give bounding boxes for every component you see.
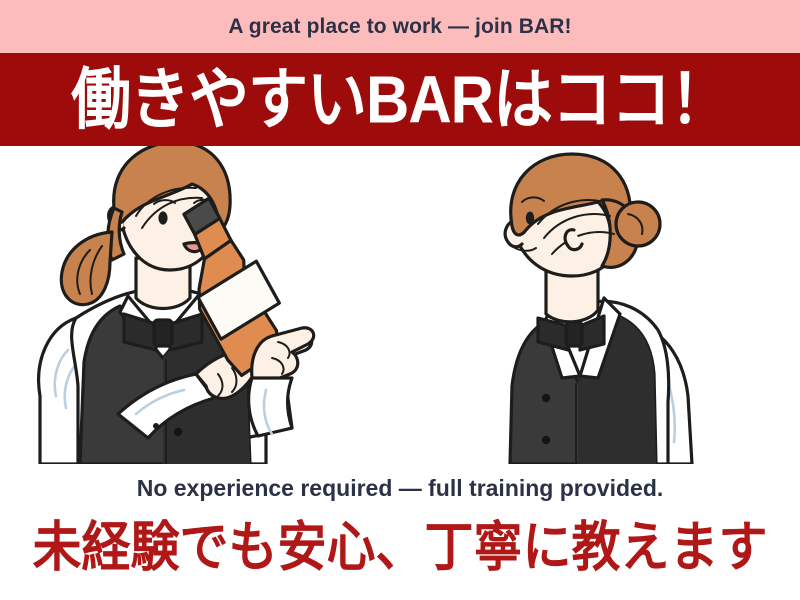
headline-band: 働きやすいBARはココ！: [0, 53, 800, 146]
illustration-stage: .ol { stroke:#1d1d1b; stroke-width:3.2; …: [0, 146, 800, 464]
tagline-text: A great place to work — join BAR!: [228, 15, 571, 39]
left-cuff-button: [153, 423, 159, 429]
left-eye-near: [158, 211, 167, 224]
bottle-arm-cuff: [249, 378, 292, 436]
poster-root: A great place to work — join BAR! 働きやすいB…: [0, 0, 800, 600]
headline-text: 働きやすいBARはココ！: [71, 66, 729, 133]
right-vest-button-1: [542, 394, 550, 402]
bartenders-illustration: .ol { stroke:#1d1d1b; stroke-width:3.2; …: [0, 146, 800, 464]
subline-text: No experience required — full training p…: [137, 475, 664, 502]
right-hair-bun: [616, 202, 660, 246]
left-bowtie: [124, 314, 202, 350]
tagline-band: A great place to work — join BAR!: [0, 0, 800, 53]
right-vest-button-2: [542, 436, 550, 444]
subline-band: No experience required — full training p…: [0, 466, 800, 510]
closing-text: 未経験でも安心、丁寧に教えます: [32, 521, 767, 575]
left-vest-button-2: [174, 428, 182, 436]
right-eye: [526, 212, 534, 225]
closing-band: 未経験でも安心、丁寧に教えます: [0, 510, 800, 586]
